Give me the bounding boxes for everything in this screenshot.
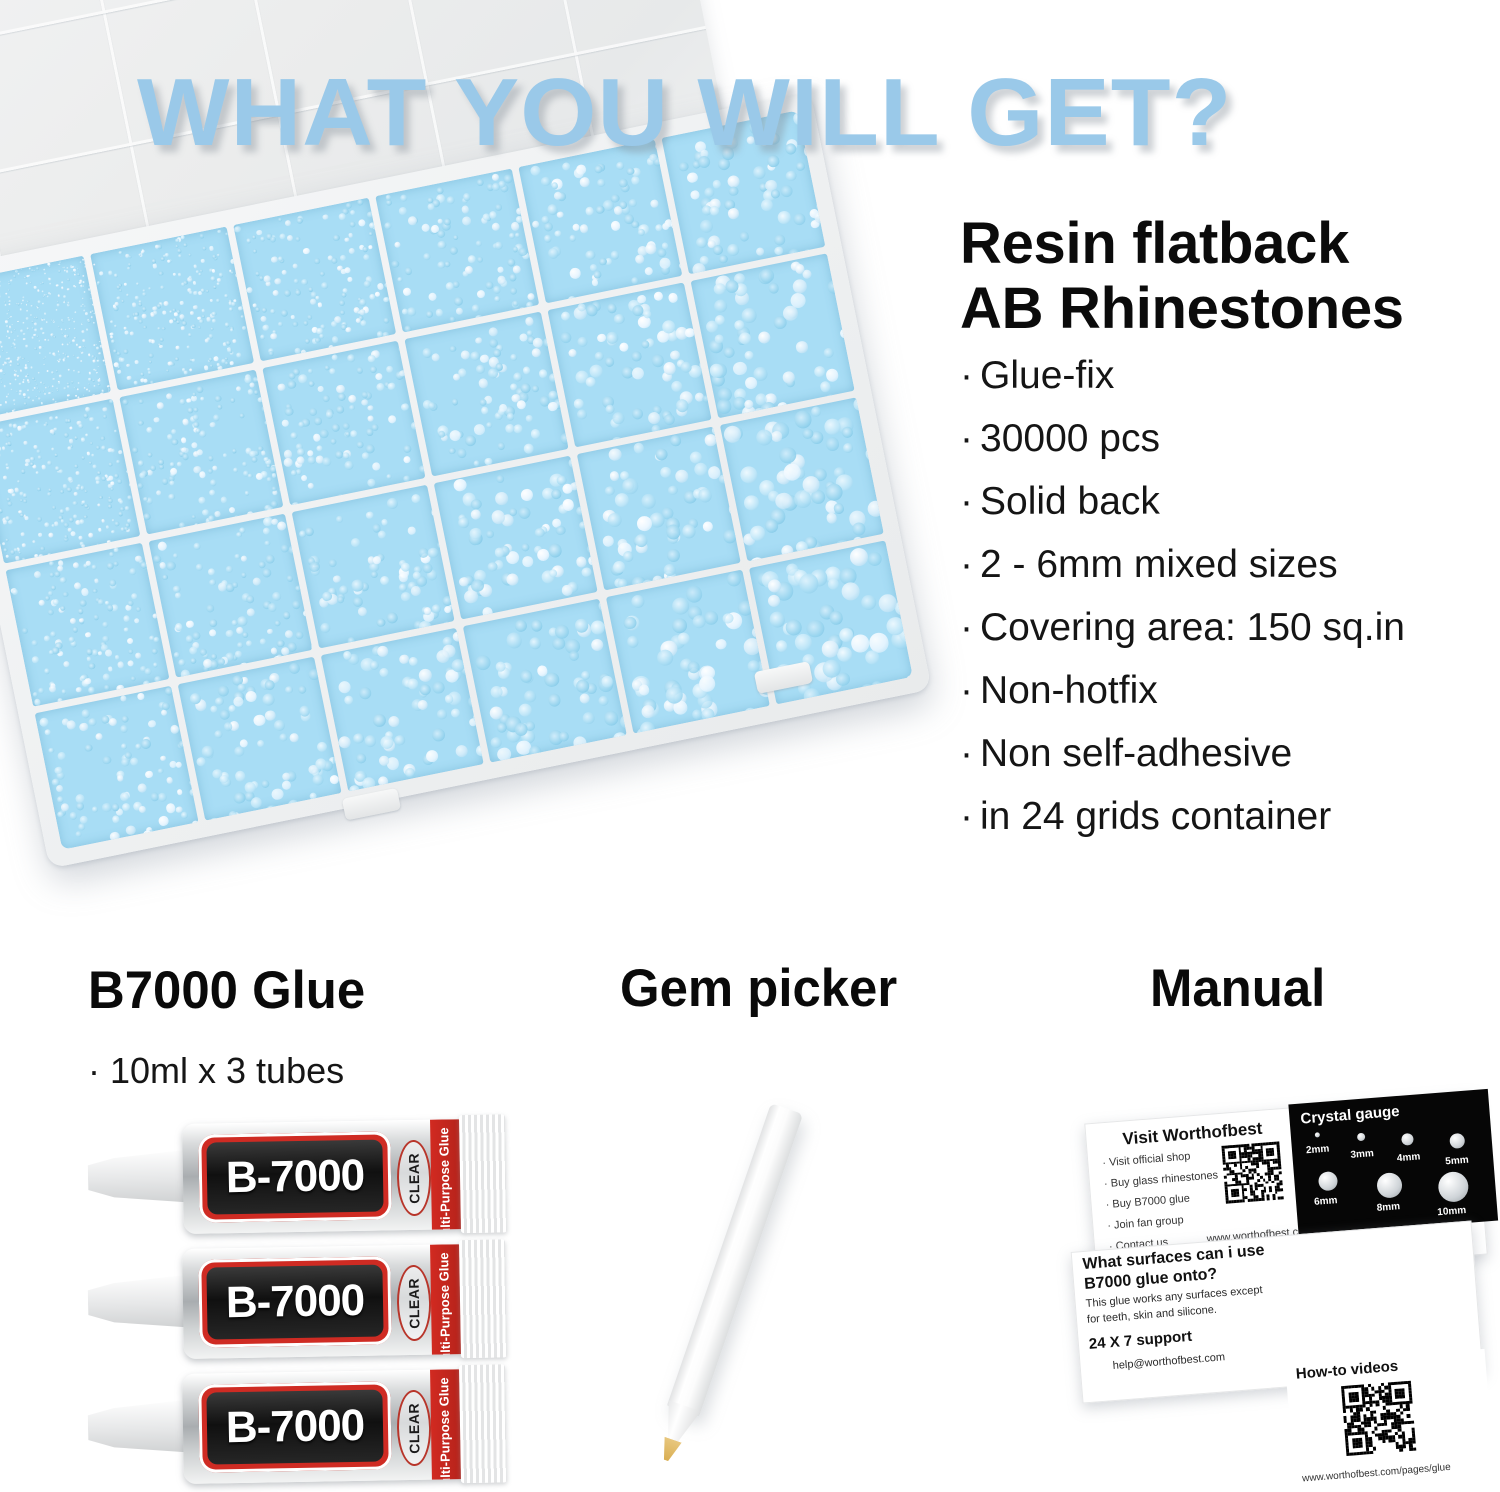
tube-brand-text: B-7000 (225, 1276, 364, 1328)
box-compartment (291, 484, 455, 648)
tube-type-text: Multi-Purpose Glue (436, 1252, 453, 1359)
box-compartment (577, 426, 741, 590)
list-item: ·Non-hotfix (960, 671, 1500, 710)
page-title: WHAT YOU WILL GET? (137, 58, 1232, 168)
infographic-canvas: WHAT YOU WILL GET? Resin flatback AB Rhi… (0, 0, 1500, 1492)
tube-type-stripe: Multi-Purpose Glue (430, 1369, 462, 1484)
box-compartment (463, 598, 627, 762)
section-heading-manual: Manual (1150, 958, 1325, 1019)
tube-clear-text: CLEAR (406, 1402, 423, 1453)
gauge-label-8mm: 8mm (1376, 1201, 1400, 1214)
gem-picker-pencil (667, 1103, 803, 1417)
bullet-text: Non self-adhesive (980, 732, 1292, 775)
product-heading: Resin flatback AB Rhinestones (960, 212, 1500, 342)
tube-type-stripe: Multi-Purpose Glue (430, 1244, 462, 1359)
box-compartment (177, 657, 341, 821)
tube-clear-text: CLEAR (406, 1152, 423, 1203)
bullet-text: 2 - 6mm mixed sizes (980, 543, 1338, 586)
tube-clear-badge: CLEAR (396, 1265, 431, 1342)
bullet-text: Covering area: 150 sq.in (980, 606, 1405, 649)
box-compartment (548, 283, 712, 447)
box-compartment (405, 312, 569, 476)
box-compartment (320, 627, 484, 791)
howto-title: How-to videos (1295, 1358, 1399, 1383)
list-item: ·Non self-adhesive (960, 734, 1500, 773)
section-heading-glue: B7000 Glue (88, 960, 365, 1021)
tube-crimp-seal (459, 1239, 507, 1358)
gauge-dot-3mm (1357, 1133, 1366, 1142)
gauge-dot-5mm (1449, 1133, 1465, 1149)
crystal-gauge-title: Crystal gauge (1300, 1103, 1400, 1128)
glue-tube: B-7000 CLEAR Multi-Purpose Glue 0.5 OZ |… (87, 1239, 509, 1364)
tube-label-plate: B-7000 (198, 1131, 392, 1222)
tube-body: B-7000 CLEAR Multi-Purpose Glue 0.5 OZ |… (182, 1244, 464, 1359)
bullet-text: in 24 grids container (980, 795, 1331, 838)
box-compartment (5, 542, 169, 706)
howto-url: www.worthofbest.com/pages/glue (1302, 1462, 1451, 1485)
manual-support-email: help@worthofbest.com (1112, 1351, 1225, 1372)
gauge-label-4mm: 4mm (1397, 1151, 1421, 1164)
list-item: · Join fan group (1107, 1211, 1222, 1232)
tube-brand-label: B-7000 (206, 1265, 383, 1340)
bullet-text: Solid back (980, 480, 1160, 523)
gauge-label-2mm: 2mm (1306, 1143, 1330, 1156)
product-heading-line2: AB Rhinestones (960, 276, 1404, 341)
box-compartment (691, 254, 855, 418)
box-compartment (233, 198, 397, 362)
tube-brand-text: B-7000 (225, 1401, 364, 1453)
tube-crimp-seal (459, 1114, 507, 1233)
list-item: ·Glue-fix (960, 356, 1500, 395)
box-compartment (35, 686, 199, 850)
box-compartment (0, 256, 111, 420)
list-item: ·30000 pcs (960, 419, 1500, 458)
manual-support-title: 24 X 7 support (1088, 1328, 1192, 1353)
box-compartment (606, 569, 770, 733)
tube-label-plate: B-7000 (198, 1381, 392, 1472)
box-compartment (434, 455, 598, 619)
tube-body: B-7000 CLEAR Multi-Purpose Glue 0.5 OZ |… (182, 1369, 464, 1484)
section-heading-picker: Gem picker (620, 958, 897, 1019)
box-compartment (90, 227, 254, 391)
manual-cards: Visit Worthofbest · Visit official shop … (1068, 1108, 1488, 1398)
box-compartment (262, 341, 426, 505)
bullet-text: 30000 pcs (980, 417, 1160, 460)
bullet-text: Non-hotfix (980, 669, 1158, 712)
tube-brand-label: B-7000 (206, 1390, 383, 1465)
glue-tube: B-7000 CLEAR Multi-Purpose Glue 0.5 OZ |… (87, 1364, 509, 1489)
qr-code-icon[interactable] (1221, 1141, 1283, 1203)
glue-tube: B-7000 CLEAR Multi-Purpose Glue 0.5 OZ |… (87, 1114, 509, 1239)
tube-type-text: Multi-Purpose Glue (436, 1377, 453, 1484)
box-compartment (376, 168, 540, 332)
gauge-label-5mm: 5mm (1445, 1155, 1469, 1168)
glue-sub-bullet: · 10ml x 3 tubes (88, 1050, 344, 1092)
crystal-gauge-panel: Crystal gauge 2mm 3mm 4mm 5mm 6mm 8mm 10… (1288, 1089, 1498, 1236)
box-compartment (0, 399, 140, 563)
gauge-label-10mm: 10mm (1437, 1205, 1467, 1218)
tube-body: B-7000 CLEAR Multi-Purpose Glue 0.5 OZ |… (182, 1119, 464, 1234)
product-heading-line1: Resin flatback (960, 211, 1349, 276)
tube-crimp-seal (459, 1364, 507, 1483)
gauge-dot-2mm (1315, 1132, 1320, 1137)
tube-clear-text: CLEAR (406, 1277, 423, 1328)
list-item: · Buy glass rhinestones (1104, 1169, 1219, 1190)
list-item: ·2 - 6mm mixed sizes (960, 545, 1500, 584)
gauge-label-3mm: 3mm (1350, 1148, 1374, 1161)
tube-brand-label: B-7000 (206, 1140, 383, 1215)
gauge-dot-4mm (1401, 1133, 1414, 1146)
list-item: ·Solid back (960, 482, 1500, 521)
gauge-dot-6mm (1318, 1171, 1338, 1191)
bullet-text: Glue-fix (980, 354, 1114, 397)
list-item: · Visit official shop (1102, 1148, 1217, 1169)
howto-panel: How-to videos www.worthofbest.com/pages/… (1285, 1349, 1496, 1492)
list-item: ·Covering area: 150 sq.in (960, 608, 1500, 647)
list-item: · Buy B7000 glue (1105, 1190, 1220, 1211)
tube-clear-badge: CLEAR (396, 1140, 431, 1217)
product-bullet-list: ·Glue-fix ·30000 pcs ·Solid back ·2 - 6m… (960, 356, 1500, 836)
qr-code-icon[interactable] (1341, 1381, 1416, 1456)
tube-brand-text: B-7000 (225, 1151, 364, 1203)
tube-label-plate: B-7000 (198, 1256, 392, 1347)
gauge-label-6mm: 6mm (1314, 1195, 1338, 1208)
pencil-shaft (667, 1103, 803, 1417)
product-spec-panel: Resin flatback AB Rhinestones ·Glue-fix … (960, 212, 1500, 860)
tube-type-text: Multi-Purpose Glue (436, 1127, 453, 1234)
box-latch-left (342, 788, 401, 821)
manual-card-back: What surfaces can i use B7000 glue onto?… (1071, 1220, 1484, 1403)
box-compartment (119, 370, 283, 534)
list-item: ·in 24 grids container (960, 797, 1500, 836)
gauge-dot-8mm (1376, 1172, 1403, 1199)
tube-clear-badge: CLEAR (396, 1390, 431, 1467)
tube-type-stripe: Multi-Purpose Glue (430, 1119, 462, 1234)
gauge-dot-10mm (1437, 1171, 1469, 1203)
box-compartment (148, 513, 312, 677)
box-compartment (720, 397, 884, 561)
